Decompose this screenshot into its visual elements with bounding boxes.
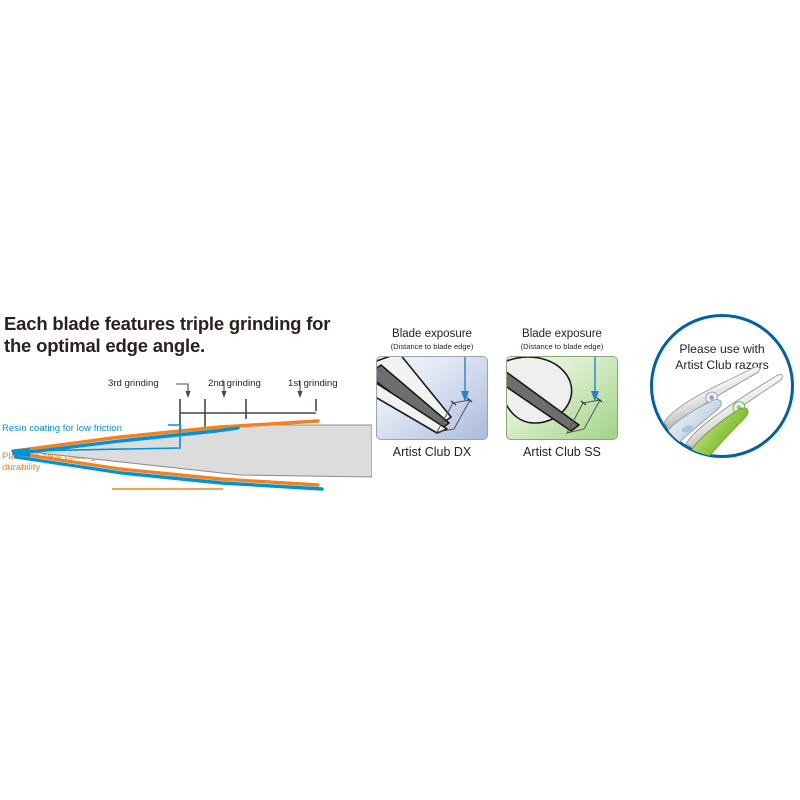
page-title-line-2: the optimal edge angle. <box>4 335 364 357</box>
leader-3rd-grinding <box>176 384 188 392</box>
panel-artist-club-ss: Blade exposure (Distance to blade edge) … <box>502 328 622 459</box>
panel-artist-club-dx: Blade exposure (Distance to blade edge) <box>372 328 492 459</box>
ss-exposure-title: Blade exposure <box>502 328 622 341</box>
page-title-line-1: Each blade features triple grinding for <box>4 313 364 335</box>
arrowhead-1st-grinding <box>297 391 302 398</box>
dx-illustration-box <box>376 356 488 440</box>
dx-exposure-title: Blade exposure <box>372 328 492 341</box>
dx-caption: Artist Club DX <box>372 445 492 459</box>
arrowhead-2nd-grinding <box>221 391 226 398</box>
dx-exposure-subtitle: (Distance to blade edge) <box>372 342 492 352</box>
ss-caption: Artist Club SS <box>502 445 622 459</box>
use-with-artist-club-badge: Please use with Artist Club razors <box>648 312 800 464</box>
blade-cross-section-diagram <box>0 365 372 495</box>
illustration-canvas: Each blade features triple grinding for … <box>0 0 800 800</box>
ss-exposure-subtitle: (Distance to blade edge) <box>502 342 622 352</box>
badge-razor-illustration <box>648 312 800 464</box>
arrowhead-3rd-grinding <box>185 391 190 398</box>
page-title: Each blade features triple grinding for … <box>4 313 364 357</box>
ss-illustration-box <box>506 356 618 440</box>
